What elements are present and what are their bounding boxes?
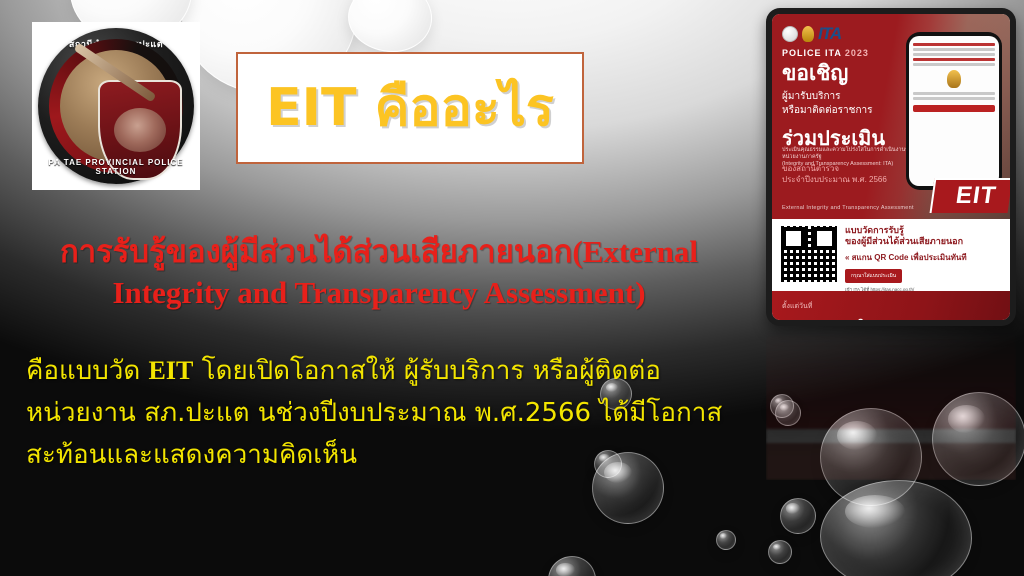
poster-survey-pill: กรุณาใส่แบบประเมิน [845, 269, 902, 283]
heading-line-1: การรับรู้ของผู้มีส่วนได้ส่วนเสียภายนอก(E… [16, 232, 742, 273]
decorative-bubble [770, 394, 794, 418]
crest-icon [802, 26, 814, 42]
decorative-bubble [348, 0, 432, 52]
ita-poster: ITA POLICE ITA2023 ขอเชิญ ผู้มารับบริการ… [766, 8, 1016, 326]
poster-subtitle-line-1: ผู้มารับบริการ [782, 90, 872, 104]
ball-icon [782, 26, 798, 42]
poster-frame: ITA POLICE ITA2023 ขอเชิญ ผู้มารับบริการ… [766, 8, 1016, 326]
page-title: EIT คืออะไร [266, 82, 554, 134]
poster-join-caption-line-1: ประเมินคุณธรรมและความโปร่งใสในการดำเนินง… [782, 147, 922, 161]
decorative-bubble [932, 392, 1024, 486]
badge-inner-disc [60, 50, 172, 162]
ita-logo-text: ITA [818, 24, 841, 44]
poster-police-ita-label: POLICE ITA2023 [782, 48, 869, 58]
poster-survey-title-line-1: แบบวัดการรับรู้ [845, 225, 1002, 236]
phone-submit-button [913, 105, 995, 112]
poster-content: ITA POLICE ITA2023 ขอเชิญ ผู้มารับบริการ… [772, 14, 1010, 320]
poster-top-section: ITA POLICE ITA2023 ขอเชิญ ผู้มารับบริการ… [772, 14, 1010, 219]
phone-screen [909, 36, 999, 186]
body-text: คือแบบวัด EIT โดยเปิดโอกาสให้ ผู้รับบริก… [26, 350, 742, 476]
decorative-bubble [548, 556, 596, 576]
poster-reflection-image [766, 330, 1016, 480]
poster-eit-badge: EIT [929, 178, 1010, 213]
decorative-bubble [716, 530, 736, 550]
body-line-2: หน่วยงาน สภ.ปะแต นช่วงปีงบประมาณ พ.ศ.256… [26, 392, 742, 434]
poster-year: 2023 [845, 48, 869, 58]
badge-outer-ring: สถานีตำรวจภูธรปะแต PA TAE PROVINCIAL POL… [38, 28, 194, 184]
poster-police-ita-text: POLICE ITA [782, 48, 842, 58]
body-line-1-part-a: คือแบบวัด [26, 356, 149, 386]
body-line-1-part-b: โดยเปิดโอกาสให้ ผู้รับบริการ หรือผู้ติดต… [193, 356, 660, 386]
poster-scan-instruction: « สแกน QR Code เพื่อประเมินทันที [845, 251, 1002, 264]
heading-text: การรับรู้ของผู้มีส่วนได้ส่วนเสียภายนอก(E… [16, 232, 742, 314]
poster-reflection [766, 330, 1016, 480]
poster-eit-caption: External Integrity and Transparency Asse… [782, 205, 914, 211]
heading-line-2: Integrity and Transparency Assessment) [16, 273, 742, 314]
police-station-logo: สถานีตำรวจภูธรปะแต PA TAE PROVINCIAL POL… [32, 22, 200, 190]
decorative-bubble [820, 408, 922, 506]
decorative-bubble [780, 498, 816, 534]
poster-qr-section: แบบวัดการรับรู้ ของผู้มีส่วนได้ส่วนเสียภ… [772, 219, 1010, 291]
poster-date-label: ตั้งแต่วันที่ [782, 301, 1000, 312]
poster-survey-title-line-2: ของผู้มีส่วนได้ส่วนเสียภายนอก [845, 236, 1002, 247]
poster-date-section: ตั้งแต่วันที่ 1 มกราคม - 30 มิถุนายน 256… [772, 291, 1010, 320]
body-line-1: คือแบบวัด EIT โดยเปิดโอกาสให้ ผู้รับบริก… [26, 350, 742, 392]
slide-title-box: EIT คืออะไร [236, 52, 584, 164]
presentation-slide: สถานีตำรวจภูธรปะแต PA TAE PROVINCIAL POL… [0, 0, 1024, 576]
decorative-bubble [820, 480, 972, 576]
body-line-1-acronym: EIT [149, 356, 194, 385]
poster-date-range: 1 มกราคม - 30 มิถุนายน 2566 [782, 315, 1000, 320]
badge-english-arc-text: PA TAE PROVINCIAL POLICE STATION [38, 158, 194, 176]
poster-qr-text: แบบวัดการรับรู้ ของผู้มีส่วนได้ส่วนเสียภ… [845, 225, 1002, 285]
body-line-3: สะท้อนและแสดงความคิดเห็น [26, 434, 742, 476]
smartphone-illustration [906, 32, 1002, 190]
qr-code-icon [780, 225, 838, 283]
decorative-bubble [775, 400, 801, 426]
poster-invite-headline: ขอเชิญ [782, 62, 848, 84]
decorative-bubble [768, 540, 792, 564]
poster-subtitle-line-2: หรือมาติดต่อราชการ [782, 104, 872, 118]
poster-subtitle: ผู้มารับบริการ หรือมาติดต่อราชการ [782, 90, 872, 117]
phone-crest-icon [947, 70, 961, 88]
poster-logo-row: ITA [782, 24, 841, 44]
